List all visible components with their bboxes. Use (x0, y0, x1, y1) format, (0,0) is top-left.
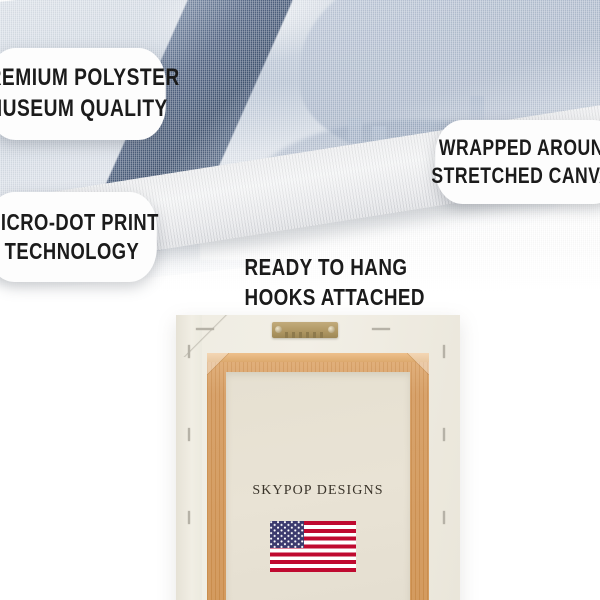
staple-mark (196, 328, 214, 330)
staple-mark (188, 345, 190, 358)
staple-mark (443, 428, 445, 441)
staple-mark (443, 345, 445, 358)
staple-mark (188, 511, 190, 524)
stretcher-bar-top-bevel (207, 353, 429, 362)
sawtooth-hanger-icon (272, 322, 338, 338)
badge-line: STRETCHED CANVAS (431, 162, 600, 190)
hanger-screw-left (275, 326, 282, 333)
canvas-back-product-shot: SKYPOP DESIGNS (176, 315, 460, 600)
flag-canton (270, 521, 304, 548)
stretcher-bar-miter-right (407, 353, 429, 375)
badge-line: PREMIUM POLYSTER (0, 63, 180, 94)
badge-premium-polyster: PREMIUM POLYSTER MUSEUM QUALITY (0, 48, 166, 140)
hanger-screw-right (328, 326, 335, 333)
hanger-teeth (285, 332, 325, 338)
staple-mark (443, 511, 445, 524)
badge-line: MICRO-DOT PRINT (0, 208, 159, 237)
canvas-corner-fold (176, 315, 236, 357)
badge-line: MUSEUM QUALITY (0, 94, 168, 125)
badge-micro-dot-print-technology: MICRO-DOT PRINT TECHNOLOGY (0, 192, 157, 282)
staple-mark (372, 328, 390, 330)
flag-stars (270, 521, 304, 548)
caption-line: HOOKS ATTACHED (245, 282, 396, 312)
badge-line: TECHNOLOGY (5, 237, 140, 266)
caption-line: READY TO HANG (245, 252, 396, 282)
usa-flag-icon (270, 521, 356, 572)
staple-mark (188, 428, 190, 441)
product-feature-image: PREMIUM POLYSTER MUSEUM QUALITY WRAPPED … (0, 0, 600, 600)
badge-line: WRAPPED AROUND (439, 134, 600, 162)
badge-wrapped-around-stretched-canvas: WRAPPED AROUND STRETCHED CANVAS (435, 120, 600, 204)
brand-label: SKYPOP DESIGNS (226, 483, 410, 499)
caption-ready-to-hang: READY TO HANG HOOKS ATTACHED (245, 252, 396, 313)
